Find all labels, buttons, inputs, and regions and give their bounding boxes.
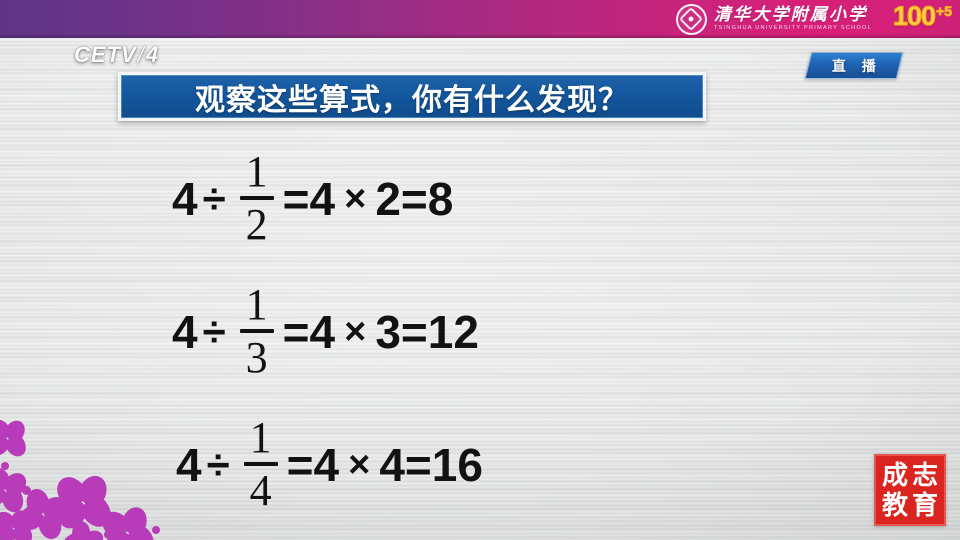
equation-3-numerator: 1 xyxy=(247,417,275,459)
equation-3-divide-icon: ÷ xyxy=(202,444,235,486)
equation-1-denominator: 2 xyxy=(243,204,271,246)
equation-3-dividend: 4 xyxy=(176,442,202,488)
channel-logo: CETV/4 xyxy=(74,42,159,68)
chengzhi-education-stamp: 成 志 教 育 xyxy=(874,454,946,526)
equation-1: 4 ÷ 1 2 =4 × 2 =8 xyxy=(172,151,453,246)
equation-3-factor: 4 xyxy=(379,442,405,488)
equation-2-divide-icon: ÷ xyxy=(198,311,231,353)
equation-3-equals-1: =4 xyxy=(287,442,339,488)
equation-2: 4 ÷ 1 3 =4 × 3 =12 xyxy=(172,284,479,379)
anniversary-mark: 100 +5 xyxy=(893,3,952,35)
channel-number: 4 xyxy=(146,42,159,67)
equation-3-denominator: 4 xyxy=(247,470,275,512)
equation-3-equals-2: =16 xyxy=(405,442,483,488)
equation-1-divide-icon: ÷ xyxy=(198,178,231,220)
channel-logo-text: CETV xyxy=(74,42,137,67)
school-name-cn: 清华大学附属小学 xyxy=(714,6,872,23)
stamp-char-3: 教 xyxy=(882,492,908,518)
equation-2-times-icon: × xyxy=(335,313,375,351)
equation-1-result: =4 × 2 =8 xyxy=(283,176,454,222)
equation-row: 4 ÷ 1 3 =4 × 3 =12 xyxy=(0,265,960,398)
live-badge-label: 直 播 xyxy=(826,56,882,76)
stamp-char-2: 志 xyxy=(912,462,938,488)
slide-title-banner: 观察这些算式，你有什么发现？ xyxy=(118,72,706,121)
equation-2-denominator: 3 xyxy=(243,337,271,379)
equation-1-factor: 2 xyxy=(375,176,401,222)
equation-2-equals-1: =4 xyxy=(283,309,335,355)
equation-2-equals-2: =12 xyxy=(401,309,479,355)
tsinghua-seal-icon xyxy=(676,4,707,35)
school-name-en: TSINGHUA UNIVERSITY PRIMARY SCHOOL xyxy=(714,26,872,32)
equation-1-times-icon: × xyxy=(335,180,375,218)
equation-2-result: =4 × 3 =12 xyxy=(283,309,479,355)
equation-1-numerator: 1 xyxy=(243,151,271,193)
equation-1-equals-1: =4 xyxy=(283,176,335,222)
equation-list: 4 ÷ 1 2 =4 × 2 =8 4 ÷ 1 xyxy=(0,132,960,531)
equation-3-times-icon: × xyxy=(339,446,379,484)
presentation-screen: 清华大学附属小学 TSINGHUA UNIVERSITY PRIMARY SCH… xyxy=(0,0,960,540)
equation-1-equals-2: =8 xyxy=(401,176,453,222)
equation-2-fraction: 1 3 xyxy=(240,284,274,379)
equation-row: 4 ÷ 1 2 =4 × 2 =8 xyxy=(0,132,960,265)
school-name-block: 清华大学附属小学 TSINGHUA UNIVERSITY PRIMARY SCH… xyxy=(714,6,872,31)
equation-2-numerator: 1 xyxy=(243,284,271,326)
top-school-banner: 清华大学附属小学 TSINGHUA UNIVERSITY PRIMARY SCH… xyxy=(0,0,960,38)
equation-row: 4 ÷ 1 4 =4 × 4 =16 xyxy=(0,398,960,531)
slide-title: 观察这些算式，你有什么发现？ xyxy=(195,75,629,119)
channel-slash-icon: / xyxy=(137,42,146,67)
anniversary-plus: +5 xyxy=(936,4,952,18)
equation-2-factor: 3 xyxy=(375,309,401,355)
equation-3-fraction: 1 4 xyxy=(244,417,278,512)
equation-3-result: =4 × 4 =16 xyxy=(287,442,483,488)
stamp-char-4: 育 xyxy=(912,492,938,518)
school-logo: 清华大学附属小学 TSINGHUA UNIVERSITY PRIMARY SCH… xyxy=(676,2,872,36)
equation-2-dividend: 4 xyxy=(172,309,198,355)
live-badge: 直 播 xyxy=(805,52,904,79)
equation-1-dividend: 4 xyxy=(172,176,198,222)
stamp-char-1: 成 xyxy=(882,462,908,488)
anniversary-number: 100 xyxy=(893,3,935,30)
equation-1-fraction: 1 2 xyxy=(240,151,274,246)
equation-3: 4 ÷ 1 4 =4 × 4 =16 xyxy=(176,417,483,512)
